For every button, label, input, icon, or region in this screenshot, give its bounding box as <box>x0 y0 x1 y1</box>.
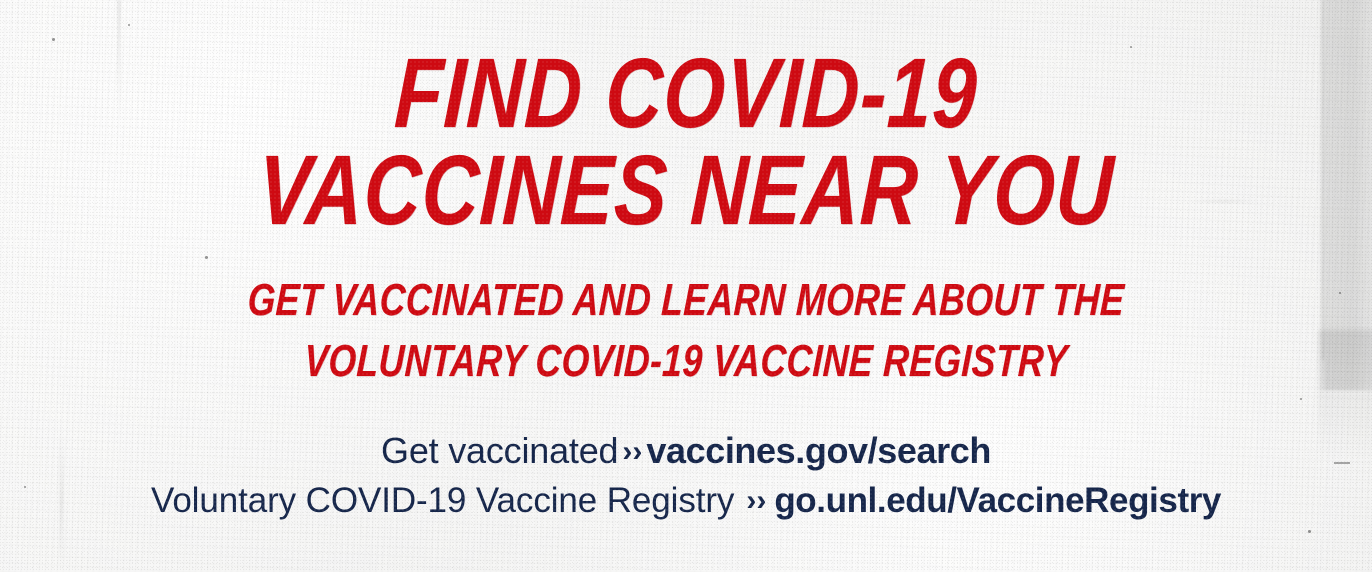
chevron-double-right-icon: ›› <box>618 435 646 468</box>
link-line-get-vaccinated: Get vaccinated››vaccines.gov/search <box>0 428 1372 473</box>
link-url-vaccines-gov[interactable]: vaccines.gov/search <box>646 430 991 471</box>
link-label-vaccine-registry: Voluntary COVID-19 Vaccine Registry <box>151 481 734 520</box>
link-label-get-vaccinated: Get vaccinated <box>381 430 618 471</box>
subheadline-block: GET VACCINATED AND LEARN MORE ABOUT THE … <box>0 277 1372 383</box>
headline-line-2: VACCINES NEAR YOU <box>135 143 1237 236</box>
subheadline-line-2: VOLUNTARY COVID-19 VACCINE REGISTRY <box>143 338 1229 383</box>
headline-line-1: FIND COVID-19 <box>135 46 1237 139</box>
vaccine-poster: FIND COVID-19 VACCINES NEAR YOU GET VACC… <box>0 0 1372 572</box>
links-block: Get vaccinated››vaccines.gov/search Volu… <box>0 428 1372 523</box>
link-url-go-unl-edu[interactable]: go.unl.edu/VaccineRegistry <box>774 481 1221 520</box>
headline-block: FIND COVID-19 VACCINES NEAR YOU <box>0 46 1372 236</box>
link-line-vaccine-registry: Voluntary COVID-19 Vaccine Registry››go.… <box>0 479 1372 523</box>
poster-content: FIND COVID-19 VACCINES NEAR YOU GET VACC… <box>0 0 1372 572</box>
chevron-double-right-icon-2: ›› <box>734 484 774 517</box>
subheadline-line-1: GET VACCINATED AND LEARN MORE ABOUT THE <box>143 277 1229 322</box>
